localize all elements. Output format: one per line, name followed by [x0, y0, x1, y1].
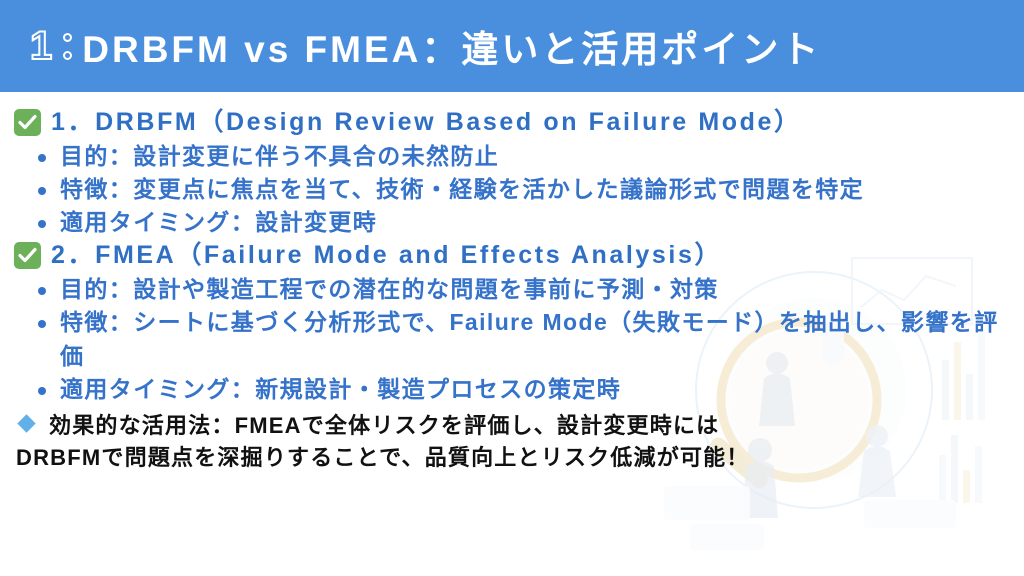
header-title-text: DRBFM vs FMEA：違いと活用ポイント [82, 19, 821, 73]
list-item: 適用タイミング：設計変更時 [34, 206, 1016, 239]
green-checkbox-icon [14, 109, 41, 136]
slide-header: 1 DRBFM vs FMEA：違いと活用ポイント [0, 0, 1024, 92]
conclusion-line-1: 効果的な活用法：FMEAで全体リスクを評価し、設計変更時には [49, 410, 719, 442]
slide-body: 1．DRBFM（Design Review Based on Failure M… [0, 92, 1024, 576]
green-checkbox-icon [14, 242, 41, 269]
outline-colon-icon [63, 33, 72, 60]
section-1-bullet-list: 目的：設計変更に伴う不具合の未然防止 特徴：変更点に焦点を当て、技術・経験を活か… [34, 140, 1016, 239]
conclusion-line-2: DRBFMで問題点を深掘りすることで、品質向上とリスク低減が可能！ [16, 442, 1016, 474]
conclusion-block: 効果的な活用法：FMEAで全体リスクを評価し、設計変更時には DRBFMで問題点… [14, 410, 1016, 474]
diamond-bullet-icon [17, 414, 35, 432]
header-title: 1 DRBFM vs FMEA：違いと活用ポイント [0, 19, 821, 73]
list-item: 目的：設計や製造工程での潜在的な問題を事前に予測・対策 [34, 273, 1016, 306]
section-heading-1: 1．DRBFM（Design Review Based on Failure M… [14, 106, 1016, 138]
header-number: 1 [30, 26, 55, 66]
list-item: 特徴：シートに基づく分析形式で、Failure Mode（失敗モード）を抽出し、… [34, 306, 1016, 372]
section-heading-1-text: 1．DRBFM（Design Review Based on Failure M… [51, 106, 802, 138]
section-heading-2-text: 2．FMEA（Failure Mode and Effects Analysis… [51, 239, 722, 271]
list-item: 目的：設計変更に伴う不具合の未然防止 [34, 140, 1016, 173]
section-2-bullet-list: 目的：設計や製造工程での潜在的な問題を事前に予測・対策 特徴：シートに基づく分析… [34, 273, 1016, 405]
list-item: 特徴：変更点に焦点を当て、技術・経験を活かした議論形式で問題を特定 [34, 173, 1016, 206]
list-item: 適用タイミング：新規設計・製造プロセスの策定時 [34, 373, 1016, 406]
slide-root: 1 DRBFM vs FMEA：違いと活用ポイント 1．DRBFM（Design… [0, 0, 1024, 576]
section-heading-2: 2．FMEA（Failure Mode and Effects Analysis… [14, 239, 1016, 271]
